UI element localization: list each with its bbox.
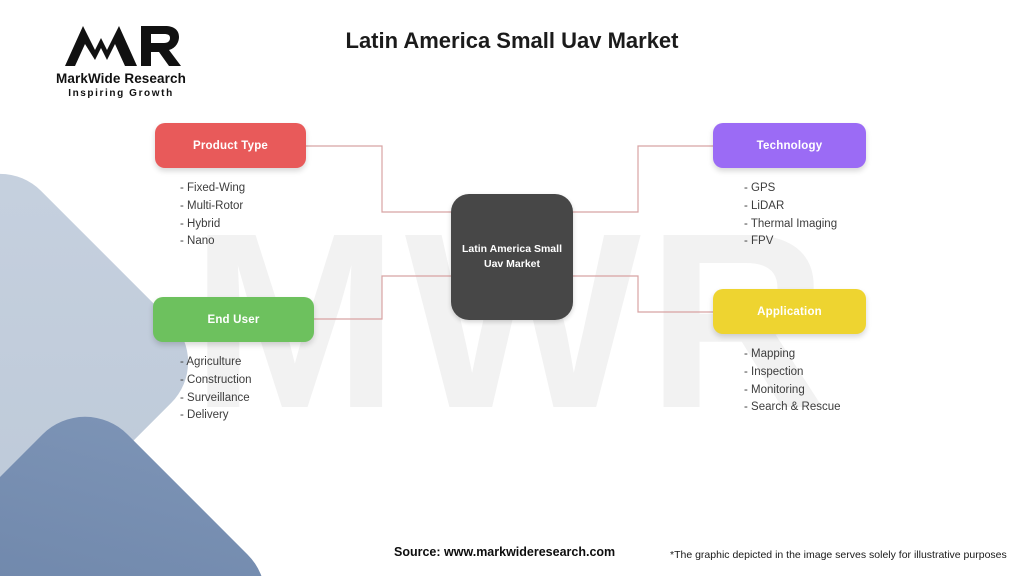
infographic-canvas: MWR MarkWide Research Inspiring Growth L… (0, 0, 1024, 576)
list-item: - Fixed-Wing (180, 180, 306, 198)
branch-product-type-header[interactable]: Product Type (155, 123, 306, 168)
list-item: - GPS (744, 180, 866, 198)
branch-end-user-label: End User (207, 314, 259, 326)
list-item: - Multi-Rotor (180, 198, 306, 216)
list-item: - Monitoring (744, 382, 866, 400)
branch-product-type-list: - Fixed-Wing - Multi-Rotor - Hybrid - Na… (180, 180, 306, 251)
branch-end-user[interactable]: End User - Agriculture - Construction - … (153, 297, 314, 425)
list-item: - Hybrid (180, 216, 306, 234)
list-item: - Thermal Imaging (744, 216, 866, 234)
center-node-label: Latin America Small Uav Market (451, 242, 573, 272)
list-item: - Agriculture (180, 354, 314, 372)
branch-technology-label: Technology (757, 140, 823, 152)
list-item: - Inspection (744, 364, 866, 382)
list-item: - Search & Rescue (744, 399, 866, 417)
list-item: - FPV (744, 233, 866, 251)
branch-application-list: - Mapping - Inspection - Monitoring - Se… (744, 346, 866, 417)
branch-product-type-label: Product Type (193, 140, 268, 152)
list-item: - Construction (180, 372, 314, 390)
branch-application-label: Application (757, 306, 822, 318)
branch-technology-header[interactable]: Technology (713, 123, 866, 168)
list-item: - Mapping (744, 346, 866, 364)
branch-end-user-list: - Agriculture - Construction - Surveilla… (180, 354, 314, 425)
branch-technology-list: - GPS - LiDAR - Thermal Imaging - FPV (744, 180, 866, 251)
branch-technology[interactable]: Technology - GPS - LiDAR - Thermal Imagi… (713, 123, 866, 251)
branch-end-user-header[interactable]: End User (153, 297, 314, 342)
list-item: - Nano (180, 233, 306, 251)
footer-disclaimer: *The graphic depicted in the image serve… (670, 549, 1007, 561)
list-item: - Delivery (180, 407, 314, 425)
branch-application-header[interactable]: Application (713, 289, 866, 334)
footer-source: Source: www.markwideresearch.com (394, 545, 615, 559)
branch-application[interactable]: Application - Mapping - Inspection - Mon… (713, 289, 866, 417)
list-item: - LiDAR (744, 198, 866, 216)
branch-product-type[interactable]: Product Type - Fixed-Wing - Multi-Rotor … (155, 123, 306, 251)
list-item: - Surveillance (180, 390, 314, 408)
center-node: Latin America Small Uav Market (451, 194, 573, 320)
